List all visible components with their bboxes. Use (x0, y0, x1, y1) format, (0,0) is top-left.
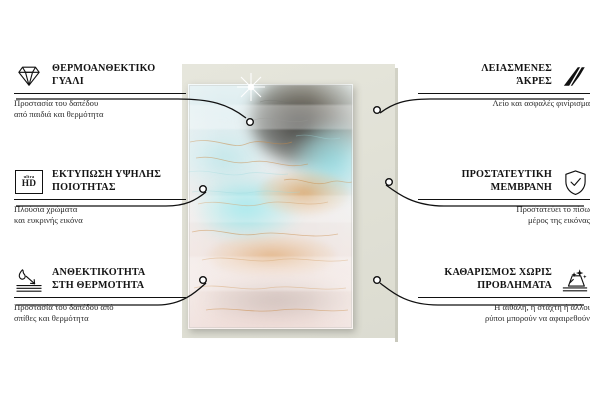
feature-divider (14, 297, 186, 298)
feature-header: ΑΝΘΕΚΤΙΚΟΤΗΤΑ ΣΤΗ ΘΕΡΜΟΤΗΤΑ (14, 266, 186, 294)
feature-divider (418, 199, 590, 200)
feature-heat-durability: ΑΝΘΕΚΤΙΚΟΤΗΤΑ ΣΤΗ ΘΕΡΜΟΤΗΤΑ Προστασία το… (14, 266, 186, 325)
glass-edge-highlight (188, 84, 353, 329)
diamond-icon (14, 62, 44, 90)
feature-smooth-edges: ΛΕΙΑΣΜΕΝΕΣ ΆΚΡΕΣ Λείο και ασφαλές φινίρι… (418, 62, 590, 109)
feature-divider (418, 93, 590, 94)
feature-title: ΕΚΤΥΠΩΣΗ ΥΨΗΛΗΣ ΠΟΙΟΤΗΤΑΣ (52, 169, 161, 194)
feature-header: ΘΕΡΜΟΑΝΘΕΚΤΙΚΟ ΓΥΑΛΙ (14, 62, 186, 90)
ultra-hd-large-label: HD (22, 180, 36, 189)
ultra-hd-icon: ultra HD (14, 168, 44, 196)
feature-header: ΠΡΟΣΤΑΤΕΥΤΙΚΗ ΜΕΜΒΡΑΝΗ (418, 168, 590, 196)
feature-title: ΠΡΟΣΤΑΤΕΥΤΙΚΗ ΜΕΜΒΡΑΝΗ (462, 169, 552, 194)
feature-high-quality-print: ultra HD ΕΚΤΥΠΩΣΗ ΥΨΗΛΗΣ ΠΟΙΟΤΗΤΑΣ Πλούσ… (14, 168, 186, 227)
feature-protective-membrane: ΠΡΟΣΤΑΤΕΥΤΙΚΗ ΜΕΜΒΡΑΝΗ Προστατεύει το πί… (418, 168, 590, 227)
feature-title: ΚΑΘΑΡΙΣΜΟΣ ΧΩΡΙΣ ΠΡΟΒΛΗΜΑΤΑ (444, 267, 552, 292)
feature-body: Προστατεύει το πίσω μέρος της εικόνας (418, 204, 590, 227)
feature-divider (14, 93, 186, 94)
feature-body: Προστασία του δαπέδου από παιδιά και θερ… (14, 98, 186, 121)
feature-divider (418, 297, 590, 298)
feature-body: Προστασία του δαπέδου από σπίθες και θερ… (14, 302, 186, 325)
feature-header: ΚΑΘΑΡΙΣΜΟΣ ΧΩΡΙΣ ΠΡΟΒΛΗΜΑΤΑ (418, 266, 590, 294)
feature-easy-cleaning: ΚΑΘΑΡΙΣΜΟΣ ΧΩΡΙΣ ΠΡΟΒΛΗΜΑΤΑ Η αιθάλη, η … (418, 266, 590, 325)
glass-product-panel (188, 84, 353, 329)
feature-header: ultra HD ΕΚΤΥΠΩΣΗ ΥΨΗΛΗΣ ΠΟΙΟΤΗΤΑΣ (14, 168, 186, 196)
flame-deflect-icon (14, 266, 44, 294)
feature-body: Πλούσια χρώματα και ευκρινής εικόνα (14, 204, 186, 227)
shield-check-icon (560, 168, 590, 196)
feature-divider (14, 199, 186, 200)
feature-body: Λείο και ασφαλές φινίρισμα (418, 98, 590, 109)
feature-title: ΑΝΘΕΚΤΙΚΟΤΗΤΑ ΣΤΗ ΘΕΡΜΟΤΗΤΑ (52, 267, 145, 292)
feature-title: ΘΕΡΜΟΑΝΘΕΚΤΙΚΟ ΓΥΑΛΙ (52, 63, 155, 88)
feature-title: ΛΕΙΑΣΜΕΝΕΣ ΆΚΡΕΣ (481, 63, 552, 88)
feature-heat-resistant-glass: ΘΕΡΜΟΑΝΘΕΚΤΙΚΟ ΓΥΑΛΙ Προστασία του δαπέδ… (14, 62, 186, 121)
smooth-edges-icon (560, 62, 590, 90)
sparkle-clean-icon (560, 266, 590, 294)
feature-body: Η αιθάλη, η στάχτη ή άλλοι ρύποι μπορούν… (418, 302, 590, 325)
feature-header: ΛΕΙΑΣΜΕΝΕΣ ΆΚΡΕΣ (418, 62, 590, 90)
